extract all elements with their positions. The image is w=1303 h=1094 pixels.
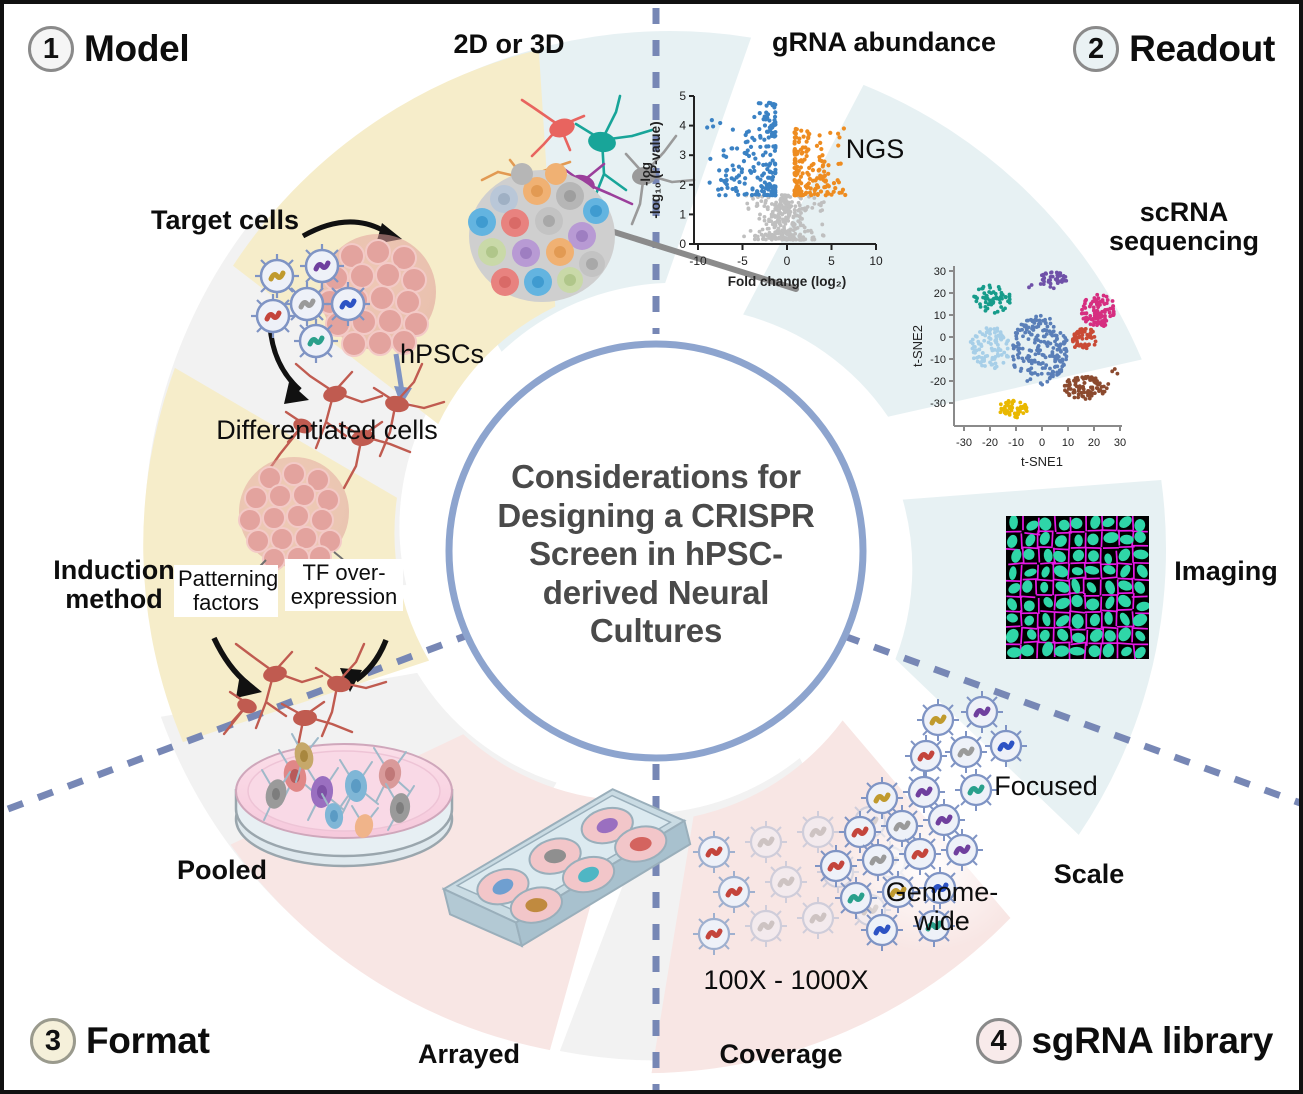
segment-label-target-cells: Target cells — [130, 206, 320, 235]
quadrant-title-format: Format — [86, 1020, 210, 1062]
svg-text:0: 0 — [1039, 437, 1045, 449]
badge-1: 1 — [28, 26, 74, 72]
segment-label-scale: Scale — [1014, 860, 1164, 889]
annotation-coverage-value: 100X - 1000X — [676, 966, 896, 995]
segment-label-imaging: Imaging — [1156, 557, 1296, 586]
annotation-patterning-factors: Patterning factors — [174, 565, 278, 617]
svg-text:10: 10 — [934, 310, 946, 322]
badge-4: 4 — [976, 1018, 1022, 1064]
badge-3: 3 — [30, 1018, 76, 1064]
annotation-ngs: NGS — [830, 135, 920, 164]
segment-label-pooled: Pooled — [142, 856, 302, 885]
svg-text:5: 5 — [679, 89, 686, 103]
annotation-differentiated-cells: Differentiated cells — [202, 416, 452, 445]
svg-text:-5: -5 — [737, 254, 748, 268]
svg-text:-10: -10 — [1008, 437, 1024, 449]
svg-text:20: 20 — [1088, 437, 1100, 449]
crispr-screen-figure: -log x 012 345 — [0, 0, 1303, 1094]
svg-text:3: 3 — [679, 148, 686, 162]
quadrant-title-readout: Readout — [1129, 28, 1275, 70]
quadrant-label-readout: 2 Readout — [1073, 26, 1275, 72]
svg-text:10: 10 — [1062, 437, 1074, 449]
center-title: Considerations for Designing a CRISPR Sc… — [480, 458, 832, 651]
svg-text:2: 2 — [679, 178, 686, 192]
annotation-tf-overexpression: TF over- expression — [285, 559, 403, 611]
svg-text:-10: -10 — [930, 354, 946, 366]
svg-text:t-SNE1: t-SNE1 — [1021, 454, 1063, 469]
quadrant-label-format: 3 Format — [30, 1018, 210, 1064]
annotation-hpscs: hPSCs — [382, 340, 502, 369]
quadrant-label-sgrna-library: 4 sgRNA library — [976, 1018, 1273, 1064]
svg-text:0: 0 — [940, 332, 946, 344]
svg-text:-20: -20 — [930, 376, 946, 388]
fluorescence-micrograph — [1003, 514, 1151, 661]
segment-label-coverage: Coverage — [686, 1040, 876, 1069]
segment-label-arrayed: Arrayed — [379, 1040, 559, 1069]
quadrant-title-sgrna-library: sgRNA library — [1032, 1020, 1273, 1062]
quadrant-title-model: Model — [84, 28, 189, 70]
annotation-focused: Focused — [976, 772, 1116, 801]
svg-text:4: 4 — [679, 119, 686, 133]
svg-text:0: 0 — [784, 254, 791, 268]
quadrant-label-model: 1 Model — [28, 26, 189, 72]
svg-text:-20: -20 — [982, 437, 998, 449]
svg-text:-30: -30 — [930, 398, 946, 410]
svg-text:-10: -10 — [689, 254, 707, 268]
segment-label-scrna-sequencing: scRNA sequencing — [1084, 198, 1284, 255]
svg-text:5: 5 — [828, 254, 835, 268]
svg-text:t-SNE2: t-SNE2 — [910, 325, 925, 367]
svg-text:10: 10 — [869, 254, 883, 268]
segment-label-2d-or-3d: 2D or 3D — [424, 30, 594, 59]
svg-text:20: 20 — [934, 288, 946, 300]
svg-text:-log₁₀ (P-value): -log₁₀ (P-value) — [648, 121, 663, 218]
svg-text:Fold change (log₂): Fold change (log₂) — [728, 274, 847, 289]
svg-text:1: 1 — [679, 207, 686, 221]
svg-text:30: 30 — [1114, 437, 1126, 449]
annotation-genome-wide: Genome- wide — [882, 878, 1002, 935]
svg-text:-30: -30 — [956, 437, 972, 449]
svg-text:0: 0 — [679, 237, 686, 251]
svg-text:30: 30 — [934, 266, 946, 278]
badge-2: 2 — [1073, 26, 1119, 72]
segment-label-grna-abundance: gRNA abundance — [744, 28, 1024, 57]
